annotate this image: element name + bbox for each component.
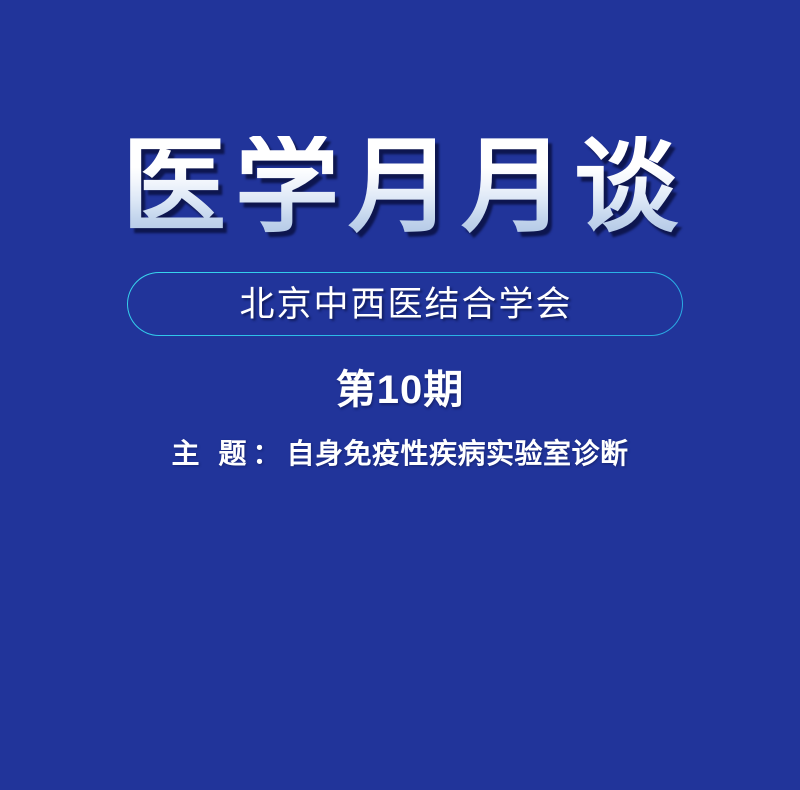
issue-number: 第10期 xyxy=(0,368,800,412)
society-pill-inner: 北京中西医结合学会 xyxy=(128,273,682,335)
poster-title: 医学月月谈 xyxy=(113,136,687,240)
topic-value: 自身免疫性疾病实验室诊断 xyxy=(287,439,629,470)
society-pill: 北京中西医结合学会 xyxy=(127,272,683,336)
topic-line: 主 题：自身免疫性疾病实验室诊断 xyxy=(0,438,800,472)
masthead: 医学月月谈 xyxy=(0,126,800,250)
topic-label: 主 题： xyxy=(171,439,286,470)
poster-slide: 医学月月谈 北京中西医结合学会 第10期 主 题：自身免疫性疾病实验室诊断 xyxy=(0,0,800,790)
society-name: 北京中西医结合学会 xyxy=(237,287,572,322)
